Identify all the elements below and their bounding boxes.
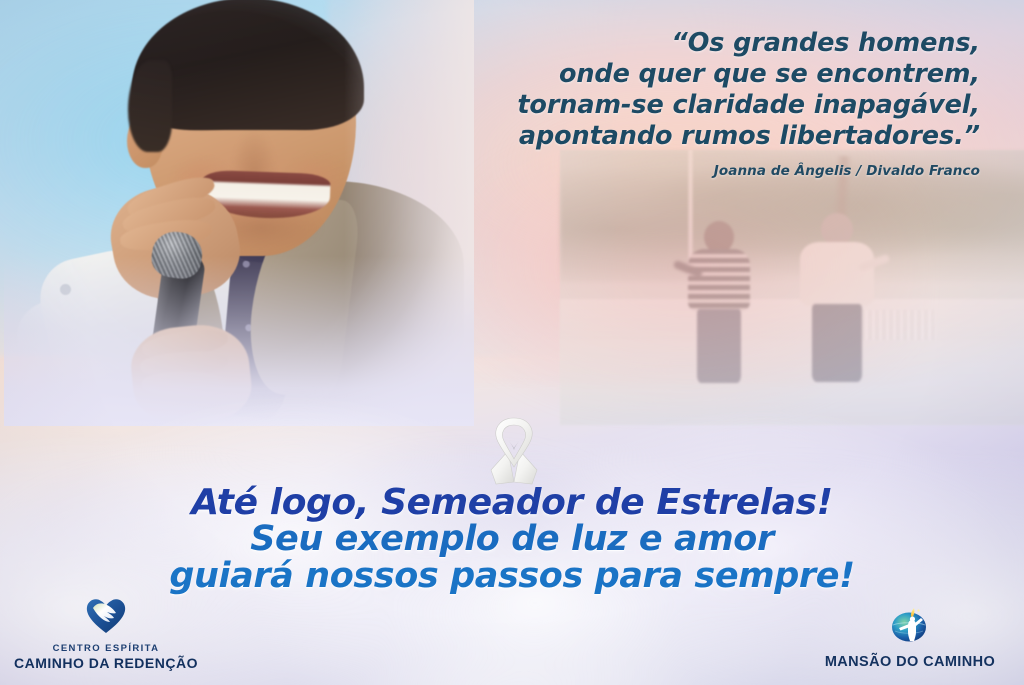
logo-mansao-do-caminho: MANSÃO DO CAMINHO [804, 602, 1016, 671]
quote-line-4: apontando rumos libertadores.” [420, 121, 980, 152]
logo-left-line-1: CENTRO ESPÍRITA [8, 643, 204, 655]
quote-line-3: tornam-se claridade inapagável, [420, 90, 980, 121]
quote-line-2: onde quer que se encontrem, [420, 59, 980, 90]
logo-right-line-1: MANSÃO DO CAMINHO [804, 654, 1016, 671]
headline-line-3: guiará nossos passos para sempre! [0, 558, 1024, 595]
white-ribbon-icon [479, 410, 549, 488]
heart-hands-icon [8, 595, 204, 640]
globe-figure-flame-icon [804, 602, 1016, 651]
headline-line-1: Até logo, Semeador de Estrelas! [0, 484, 1024, 521]
logo-left-line-2: CAMINHO DA REDENÇÃO [8, 655, 204, 671]
quote-block: “Os grandes homens, onde quer que se enc… [420, 28, 980, 179]
quote-line-1: “Os grandes homens, [420, 28, 980, 59]
logo-centro-espirita: CENTRO ESPÍRITA CAMINHO DA REDENÇÃO [8, 595, 204, 671]
quote-attribution: Joanna de Ângelis / Divaldo Franco [420, 163, 980, 179]
headline-block: Até logo, Semeador de Estrelas! Seu exem… [0, 484, 1024, 595]
headline-line-2: Seu exemplo de luz e amor [0, 521, 1024, 558]
memorial-poster: “Os grandes homens, onde quer que se enc… [0, 0, 1024, 685]
